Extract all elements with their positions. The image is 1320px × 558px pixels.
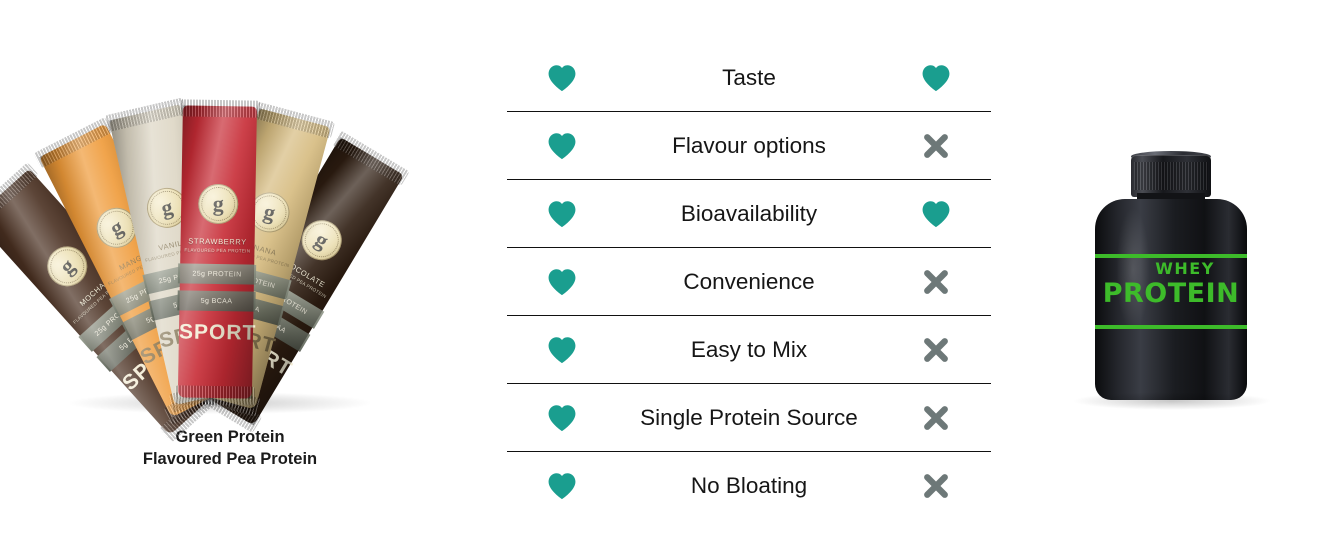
comparison-row: Easy to Mix xyxy=(507,316,991,384)
heart-icon xyxy=(921,64,951,92)
comparison-row-label: Flavour options xyxy=(617,133,881,159)
tub-label-whey: WHEY xyxy=(1123,261,1247,277)
left-mark xyxy=(507,404,617,432)
comparison-row-label: Convenience xyxy=(617,269,881,295)
packet-sheen xyxy=(178,105,257,398)
protein-packet: gSTRAWBERRYFLAVOURED PEA PROTEIN25g PROT… xyxy=(178,105,257,398)
comparison-row: Convenience xyxy=(507,248,991,316)
left-product-panel: gMOCHAFLAVOURED PEA PROTEIN25g PROTEIN5g… xyxy=(0,0,500,558)
heart-icon xyxy=(547,132,577,160)
right-mark xyxy=(881,268,991,296)
left-mark xyxy=(507,132,617,160)
tub-lid xyxy=(1131,155,1211,197)
comparison-row-label: Bioavailability xyxy=(617,201,881,227)
tub-label-protein: PROTEIN xyxy=(1095,280,1247,307)
tub-label: WHEY PROTEIN xyxy=(1095,261,1247,307)
cross-icon xyxy=(922,268,950,296)
cross-icon xyxy=(922,404,950,432)
cross-icon xyxy=(922,132,950,160)
comparison-row: Bioavailability xyxy=(507,180,991,248)
pea-protein-packet-fan: gMOCHAFLAVOURED PEA PROTEIN25g PROTEIN5g… xyxy=(22,96,462,416)
right-product-panel: WHEY PROTEIN Generic Whey Protein xyxy=(1020,0,1320,558)
tub-stripe-bottom xyxy=(1095,325,1247,329)
comparison-row-label: Single Protein Source xyxy=(617,405,881,431)
right-mark xyxy=(881,404,991,432)
whey-protein-tub: WHEY PROTEIN xyxy=(1095,155,1247,400)
tub-shadow xyxy=(1072,392,1272,410)
comparison-row: No Bloating xyxy=(507,452,991,519)
left-caption-line1: Green Protein xyxy=(175,428,284,446)
comparison-row-label: Easy to Mix xyxy=(617,337,881,363)
right-mark xyxy=(881,336,991,364)
right-mark xyxy=(881,472,991,500)
heart-icon xyxy=(547,200,577,228)
left-mark xyxy=(507,336,617,364)
left-mark xyxy=(507,472,617,500)
left-caption-line2: Flavoured Pea Protein xyxy=(143,450,317,468)
heart-icon xyxy=(547,336,577,364)
heart-icon xyxy=(547,472,577,500)
right-mark xyxy=(881,132,991,160)
comparison-infographic: gMOCHAFLAVOURED PEA PROTEIN25g PROTEIN5g… xyxy=(0,0,1320,558)
left-product-caption: Green Protein Flavoured Pea Protein xyxy=(60,427,400,471)
comparison-row: Taste xyxy=(507,44,991,112)
right-mark xyxy=(881,200,991,228)
cross-icon xyxy=(922,472,950,500)
left-mark xyxy=(507,64,617,92)
left-mark xyxy=(507,200,617,228)
heart-icon xyxy=(921,200,951,228)
comparison-row-label: No Bloating xyxy=(617,473,881,499)
cross-icon xyxy=(922,336,950,364)
left-mark xyxy=(507,268,617,296)
right-mark xyxy=(881,64,991,92)
comparison-row-label: Taste xyxy=(617,65,881,91)
tub-body: WHEY PROTEIN xyxy=(1095,199,1247,400)
comparison-row: Flavour options xyxy=(507,112,991,180)
heart-icon xyxy=(547,404,577,432)
comparison-table: TasteFlavour optionsBioavailabilityConve… xyxy=(507,44,991,519)
heart-icon xyxy=(547,268,577,296)
comparison-row: Single Protein Source xyxy=(507,384,991,452)
tub-stripe-top xyxy=(1095,254,1247,258)
heart-icon xyxy=(547,64,577,92)
